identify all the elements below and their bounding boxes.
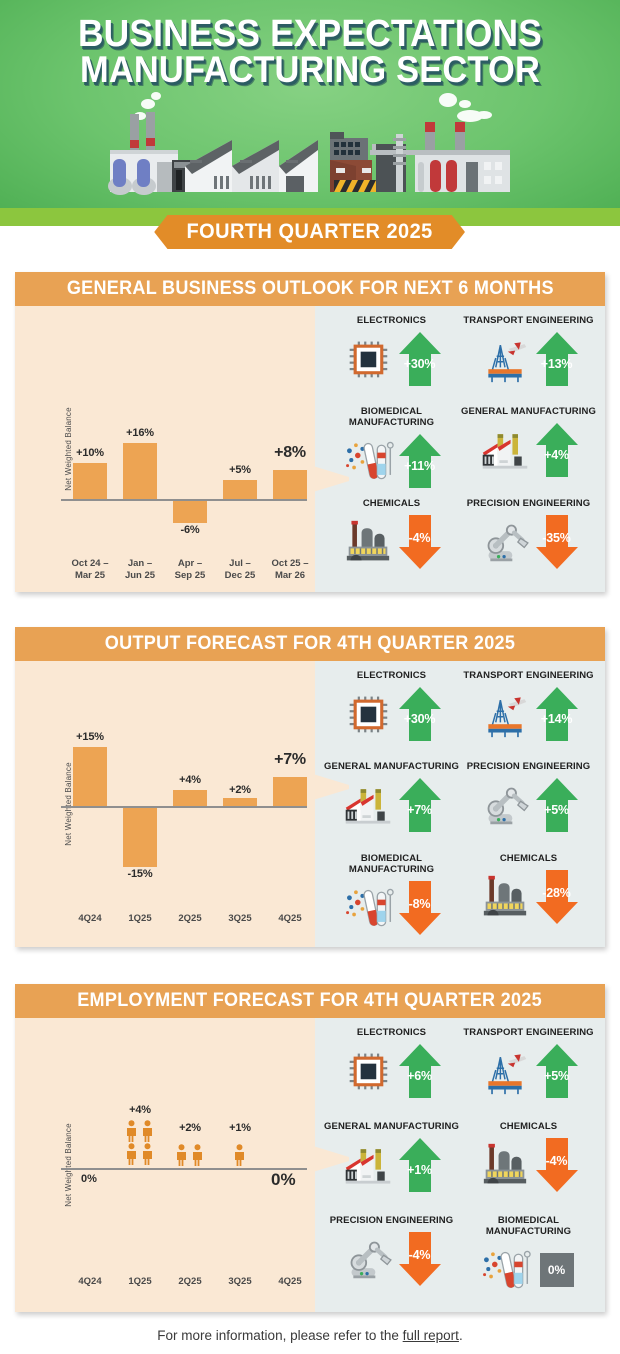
industry-cell-electronics[interactable]: ELECTRONICS	[323, 1024, 460, 1118]
down-arrow-icon: -28%	[534, 868, 580, 926]
people-row	[125, 1143, 154, 1165]
bar-value: +16%	[110, 427, 170, 439]
up-arrow-icon: +5%	[534, 1042, 580, 1100]
bar	[173, 501, 207, 523]
quarter-banner: FOURTH QUARTER 2025	[155, 215, 466, 249]
industry-value: +1%	[407, 1163, 432, 1177]
up-arrow-icon: +11%	[397, 432, 443, 490]
industry-value: -4%	[546, 1154, 568, 1168]
industry-label: PRECISION ENGINEERING	[467, 498, 591, 509]
section-2-industries-pane: ELECTRONICS	[315, 661, 605, 947]
up-arrow-icon: +14%	[534, 685, 580, 743]
industry-label: TRANSPORT ENGINEERING	[463, 1027, 593, 1038]
section-1-title: GENERAL BUSINESS OUTLOOK FOR NEXT 6 MONT…	[67, 278, 554, 300]
industry-value: +30%	[404, 712, 436, 726]
industry-value: +7%	[407, 803, 432, 817]
industry-label: TRANSPORT ENGINEERING	[463, 670, 593, 681]
industry-label: ELECTRONICS	[357, 670, 426, 681]
microchip-icon	[341, 332, 395, 386]
industry-label: BIOMEDICAL MANUFACTURING	[323, 853, 460, 875]
industry-value: -4%	[409, 1248, 431, 1262]
industry-value: +13%	[541, 357, 573, 371]
section-1-industries-pane: ELECTRONICS	[315, 306, 605, 592]
industry-cell-electronics[interactable]: ELECTRONICS	[323, 667, 460, 758]
industry-label: GENERAL MANUFACTURING	[324, 761, 459, 772]
person-icon	[141, 1120, 154, 1142]
industry-value: +4%	[544, 448, 569, 462]
section-employment-forecast: EMPLOYMENT FORECAST FOR 4TH QUARTER 2025…	[15, 984, 605, 1312]
bar-chart-2: +15% 4Q24 -15% 1Q25 +4% 2Q25	[53, 661, 307, 947]
industry-label: ELECTRONICS	[357, 315, 426, 326]
robot-arm-icon	[478, 515, 532, 569]
bar-x-label: 4Q25	[258, 1276, 322, 1288]
people-row	[125, 1120, 154, 1142]
bar-value: +5%	[210, 464, 270, 476]
bar	[73, 463, 107, 499]
bar	[223, 798, 257, 806]
robot-arm-icon	[478, 778, 532, 832]
microchip-icon	[341, 687, 395, 741]
bar-x-label: 4Q25	[258, 913, 322, 925]
up-arrow-icon: +5%	[534, 776, 580, 834]
industry-cell-general-manufacturing[interactable]: GENERAL MANUFACTURING	[323, 758, 460, 849]
industry-cell-precision-engineering[interactable]: PRECISION ENGINEERING	[460, 495, 597, 586]
section-1-header: GENERAL BUSINESS OUTLOOK FOR NEXT 6 MONT…	[15, 272, 605, 306]
industry-grid-2: ELECTRONICS	[323, 667, 597, 941]
person-icon	[141, 1143, 154, 1165]
bar-value-highlight: +8%	[260, 444, 320, 462]
test-tubes-icon	[478, 1243, 532, 1297]
bar-value: +2%	[210, 784, 270, 796]
robot-arm-icon	[341, 1232, 395, 1286]
industry-value: -28%	[542, 886, 570, 900]
hero-banner: BUSINESS EXPECTATIONS MANUFACTURING SECT…	[0, 0, 620, 208]
down-arrow-icon: -35%	[534, 513, 580, 571]
pictogram-value-highlight: 0%	[271, 1170, 296, 1190]
industry-value: -8%	[409, 897, 431, 911]
industry-label: CHEMICALS	[500, 853, 557, 864]
industry-value: +6%	[407, 1069, 432, 1083]
industry-value: +14%	[541, 712, 573, 726]
industry-cell-transport-engineering[interactable]: TRANSPORT ENGINEERING	[460, 667, 597, 758]
industry-cell-electronics[interactable]: ELECTRONICS	[323, 312, 460, 403]
bar-x-label: Oct 25 – Mar 26	[258, 558, 322, 582]
person-icon	[233, 1144, 246, 1166]
industry-label: CHEMICALS	[500, 1121, 557, 1132]
section-1-chart-pane: Net Weighted Balance +10% Oct 24 – Mar 2…	[15, 306, 315, 592]
section-2-header: OUTPUT FORECAST FOR 4TH QUARTER 2025	[15, 627, 605, 661]
section-3-chart-pane: Net Weighted Balance 0% 4Q24 +4%	[15, 1018, 315, 1312]
oil-rig-plane-icon	[478, 1044, 532, 1098]
flat-indicator: 0%	[534, 1241, 580, 1299]
industry-cell-general-manufacturing[interactable]: GENERAL MANUFACTURING	[460, 403, 597, 494]
industry-label: BIOMEDICAL MANUFACTURING	[460, 1215, 597, 1237]
section-2-chart-pane: Net Weighted Balance +15% 4Q24 -15% 1Q25	[15, 661, 315, 947]
industry-label: BIOMEDICAL MANUFACTURING	[323, 406, 460, 428]
person-icon	[191, 1144, 204, 1166]
title-line-2: MANUFACTURING SECTOR	[22, 52, 599, 87]
industry-value: 0%	[540, 1253, 574, 1287]
industry-cell-transport-engineering[interactable]: TRANSPORT ENGINEERING	[460, 312, 597, 403]
section-3-header: EMPLOYMENT FORECAST FOR 4TH QUARTER 2025	[15, 984, 605, 1018]
bar-value: +15%	[60, 731, 120, 743]
industry-grid-3: ELECTRONICS	[323, 1024, 597, 1306]
section-3-industries-pane: ELECTRONICS	[315, 1018, 605, 1312]
industry-cell-precision-engineering[interactable]: PRECISION ENGINEERING	[460, 758, 597, 849]
bar-value: -6%	[160, 524, 220, 536]
down-arrow-icon: -4%	[534, 1136, 580, 1194]
bar	[273, 470, 307, 499]
footer: For more information, please refer to th…	[0, 1328, 620, 1343]
pictogram-value: 0%	[81, 1173, 97, 1185]
up-arrow-icon: +30%	[397, 330, 443, 388]
industry-value: +5%	[544, 803, 569, 817]
oil-rig-plane-icon	[478, 332, 532, 386]
industry-label: ELECTRONICS	[357, 1027, 426, 1038]
bar	[123, 808, 157, 867]
people-row	[175, 1144, 204, 1166]
industry-label: PRECISION ENGINEERING	[467, 761, 591, 772]
down-arrow-icon: -4%	[397, 513, 443, 571]
industry-value: +30%	[404, 357, 436, 371]
factory-icon	[341, 1138, 395, 1192]
industry-grid-1: ELECTRONICS	[323, 312, 597, 586]
industry-value: +11%	[404, 459, 435, 473]
industry-label: CHEMICALS	[363, 498, 420, 509]
industry-cell-transport-engineering[interactable]: TRANSPORT ENGINEERING	[460, 1024, 597, 1118]
industry-label: GENERAL MANUFACTURING	[324, 1121, 459, 1132]
quarter-banner-wrap: FOURTH QUARTER 2025	[0, 215, 620, 249]
up-arrow-icon: +30%	[397, 685, 443, 743]
bar	[123, 443, 157, 499]
up-arrow-icon: +1%	[397, 1136, 443, 1194]
test-tubes-icon	[341, 881, 395, 935]
bar-value-highlight: +7%	[260, 751, 320, 769]
people-stack	[125, 1120, 154, 1165]
footer-text-after: .	[459, 1328, 463, 1343]
industry-cell-biomedical-manufacturing[interactable]: BIOMEDICAL MANUFACTURING	[460, 1212, 597, 1306]
person-icon	[125, 1143, 138, 1165]
up-arrow-icon: +6%	[397, 1042, 443, 1100]
people-stack	[233, 1144, 246, 1166]
bar-chart-1: +10% Oct 24 – Mar 25 +16% Jan – Jun 25	[53, 306, 307, 592]
section-3-title: EMPLOYMENT FORECAST FOR 4TH QUARTER 2025	[78, 990, 543, 1012]
pictogram-value: +4%	[110, 1104, 170, 1116]
factory-icon	[478, 423, 532, 477]
down-arrow-icon: -4%	[397, 1230, 443, 1288]
bar-value: -15%	[110, 868, 170, 880]
industry-value: +5%	[544, 1069, 569, 1083]
up-arrow-icon: +7%	[397, 776, 443, 834]
chemical-plant-icon	[478, 870, 532, 924]
people-row	[233, 1144, 246, 1166]
oil-rig-plane-icon	[478, 687, 532, 741]
factory-skyline-illustration	[0, 88, 620, 208]
people-stack	[175, 1144, 204, 1166]
section-output-forecast: OUTPUT FORECAST FOR 4TH QUARTER 2025 Net…	[15, 627, 605, 947]
industry-label: GENERAL MANUFACTURING	[461, 406, 596, 417]
industry-cell-precision-engineering[interactable]: PRECISION ENGINEERING	[323, 1212, 460, 1306]
microchip-icon	[341, 1044, 395, 1098]
page-title: BUSINESS EXPECTATIONS MANUFACTURING SECT…	[22, 0, 599, 87]
industry-label: PRECISION ENGINEERING	[330, 1215, 454, 1226]
up-arrow-icon: +13%	[534, 330, 580, 388]
industry-cell-general-manufacturing[interactable]: GENERAL MANUFACTURING	[323, 1118, 460, 1212]
industry-cell-chemicals[interactable]: CHEMICALS	[460, 850, 597, 941]
bar-value: +10%	[60, 447, 120, 459]
pictogram-value: +1%	[210, 1122, 270, 1134]
industry-cell-biomedical-manufacturing[interactable]: BIOMEDICAL MANUFACTURING	[323, 850, 460, 941]
person-icon	[125, 1120, 138, 1142]
industry-value: -35%	[542, 531, 570, 545]
bar	[173, 790, 207, 806]
down-arrow-icon: -8%	[397, 879, 443, 937]
bar	[73, 747, 107, 806]
bar	[223, 480, 257, 499]
section-2-title: OUTPUT FORECAST FOR 4TH QUARTER 2025	[105, 633, 515, 655]
person-icon	[175, 1144, 188, 1166]
chemical-plant-icon	[341, 515, 395, 569]
industry-cell-chemicals[interactable]: CHEMICALS	[460, 1118, 597, 1212]
chemical-plant-icon	[478, 1138, 532, 1192]
footer-text-before: For more information, please refer to th…	[157, 1328, 402, 1343]
full-report-link[interactable]: full report	[403, 1328, 459, 1343]
industry-label: TRANSPORT ENGINEERING	[463, 315, 593, 326]
pictogram-chart-3: 0% 4Q24 +4%	[53, 1018, 307, 1312]
up-arrow-icon: +4%	[534, 421, 580, 479]
industry-value: -4%	[409, 531, 431, 545]
industry-cell-chemicals[interactable]: CHEMICALS	[323, 495, 460, 586]
bar	[273, 777, 307, 806]
section-general-business-outlook: GENERAL BUSINESS OUTLOOK FOR NEXT 6 MONT…	[15, 272, 605, 592]
